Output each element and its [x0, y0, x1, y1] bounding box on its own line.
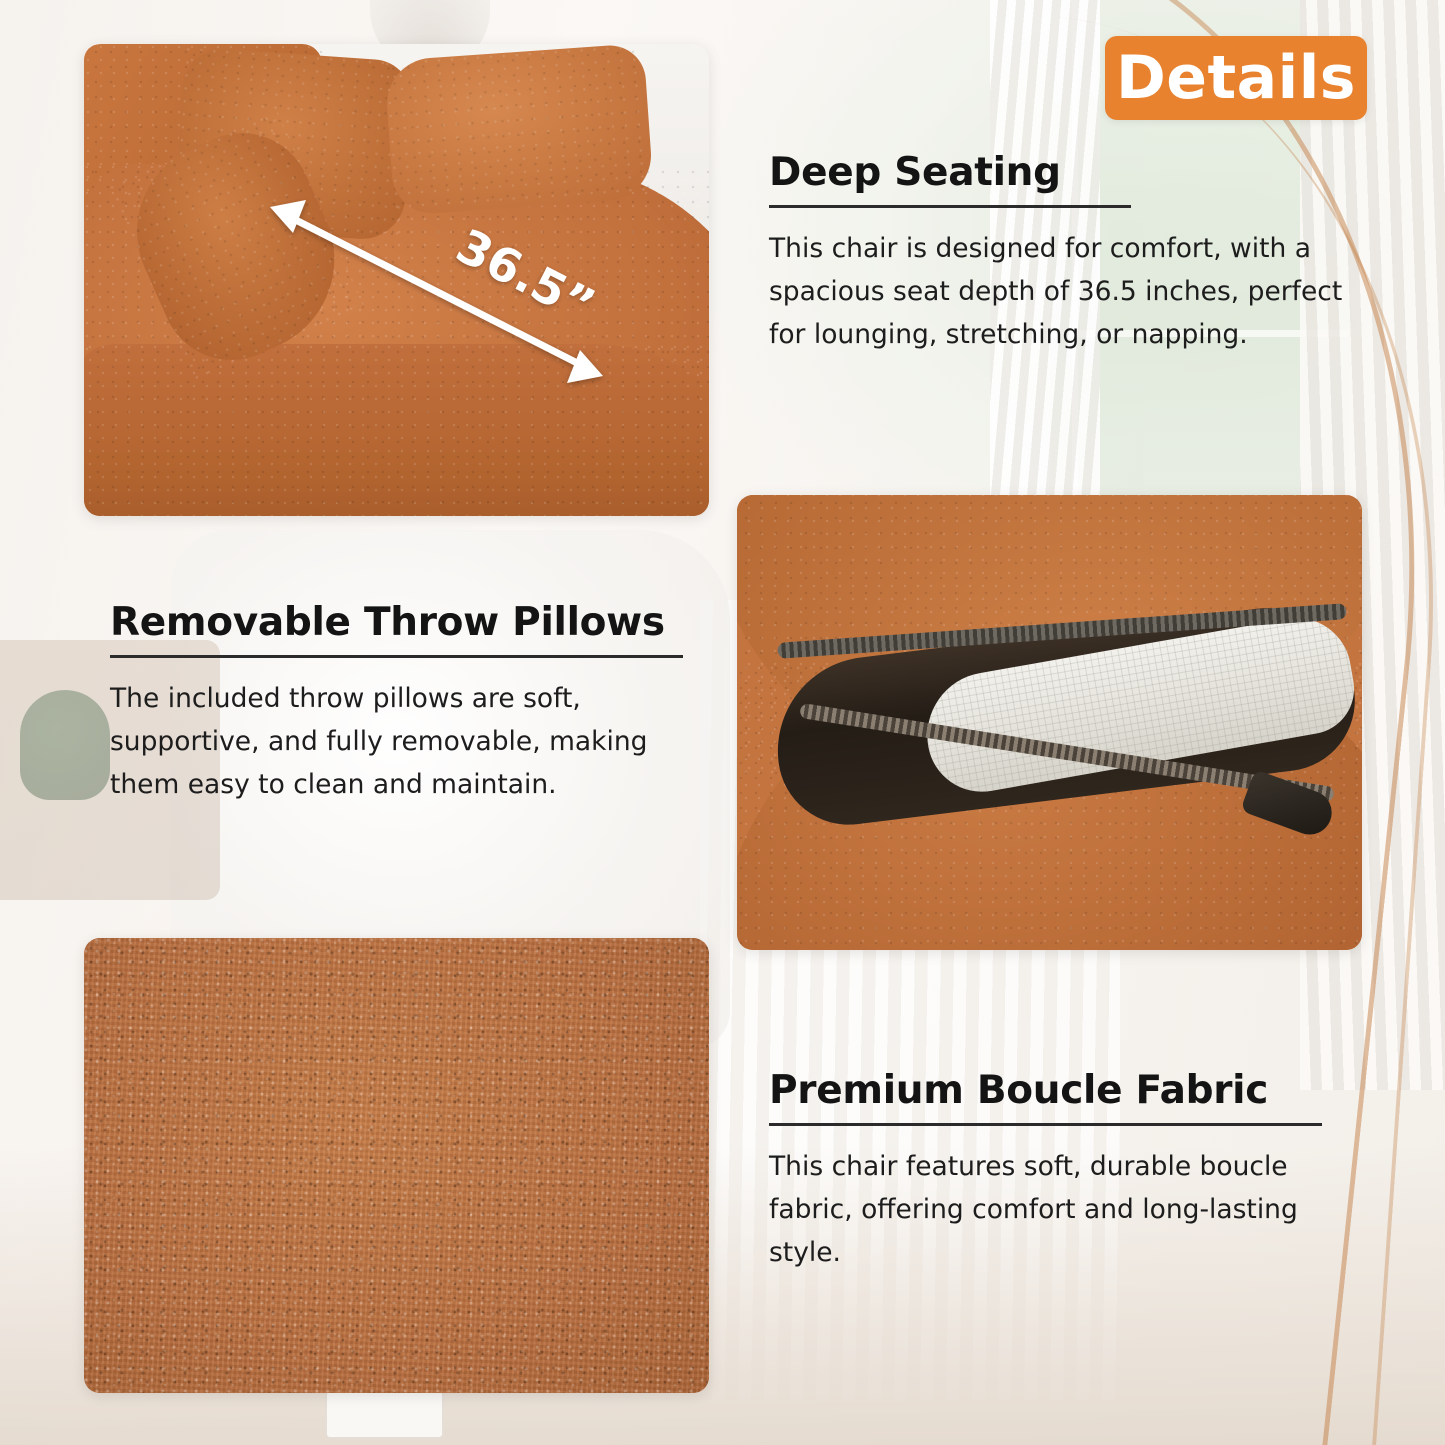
section-body-premium-boucle-fabric: This chair features soft, durable boucle…	[769, 1146, 1349, 1275]
section-title-premium-boucle-fabric: Premium Boucle Fabric	[769, 1068, 1349, 1113]
fabric-weave-texture	[84, 938, 709, 1393]
background-vase	[20, 690, 110, 800]
section-deep-seating: Deep Seating This chair is designed for …	[769, 150, 1369, 357]
section-body-deep-seating: This chair is designed for comfort, with…	[769, 228, 1369, 357]
section-title-removable-throw-pillows: Removable Throw Pillows	[110, 600, 710, 645]
section-removable-throw-pillows: Removable Throw Pillows The included thr…	[110, 600, 710, 807]
details-page: Details	[0, 0, 1445, 1445]
boucle-fabric-closeup-photo	[84, 938, 709, 1393]
title-underline	[769, 1123, 1322, 1126]
title-underline	[110, 655, 683, 658]
title-underline	[769, 205, 1131, 208]
section-title-deep-seating: Deep Seating	[769, 150, 1369, 195]
removable-cushion-zipper-photo	[737, 495, 1362, 950]
background-wall-outlet	[325, 1390, 444, 1439]
details-badge-label: Details	[1116, 48, 1356, 108]
details-badge: Details	[1105, 36, 1367, 120]
section-body-removable-throw-pillows: The included throw pillows are soft, sup…	[110, 678, 710, 807]
chair-seat-depth-photo: 36.5”	[84, 44, 709, 516]
seat-depth-arrow	[84, 44, 709, 516]
section-premium-boucle-fabric: Premium Boucle Fabric This chair feature…	[769, 1068, 1349, 1275]
